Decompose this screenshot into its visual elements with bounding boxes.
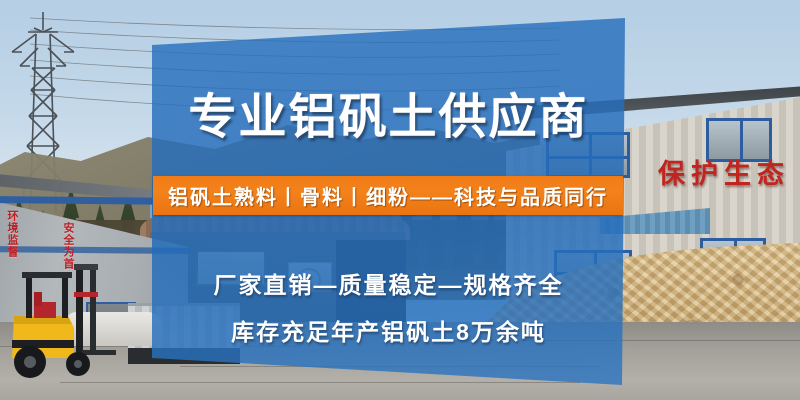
orange-ribbon-text: 铝矾土熟料丨骨料丨细粉——科技与品质同行 <box>153 176 623 215</box>
promotional-banner: 保护生态 环境监督 安全为首 <box>0 0 800 400</box>
banner-headline: 专业铝矾土供应商 <box>152 90 625 146</box>
banner-subline-1: 厂家直销—质量稳定—规格齐全 <box>152 266 625 300</box>
wall-sign-left-1: 环境监督 <box>6 210 17 258</box>
orange-ribbon: 铝矾土熟料丨骨料丨细粉——科技与品质同行 <box>153 176 623 215</box>
banner-subline-2: 库存充足年产铝矾土8万余吨 <box>152 313 625 347</box>
banner-text-block: 专业铝矾土供应商 铝矾土熟料丨骨料丨细粉——科技与品质同行 厂家直销—质量稳定—… <box>152 18 625 385</box>
wall-sign-right: 保护生态 <box>658 152 790 191</box>
yellow-forklift-icon <box>4 262 134 382</box>
